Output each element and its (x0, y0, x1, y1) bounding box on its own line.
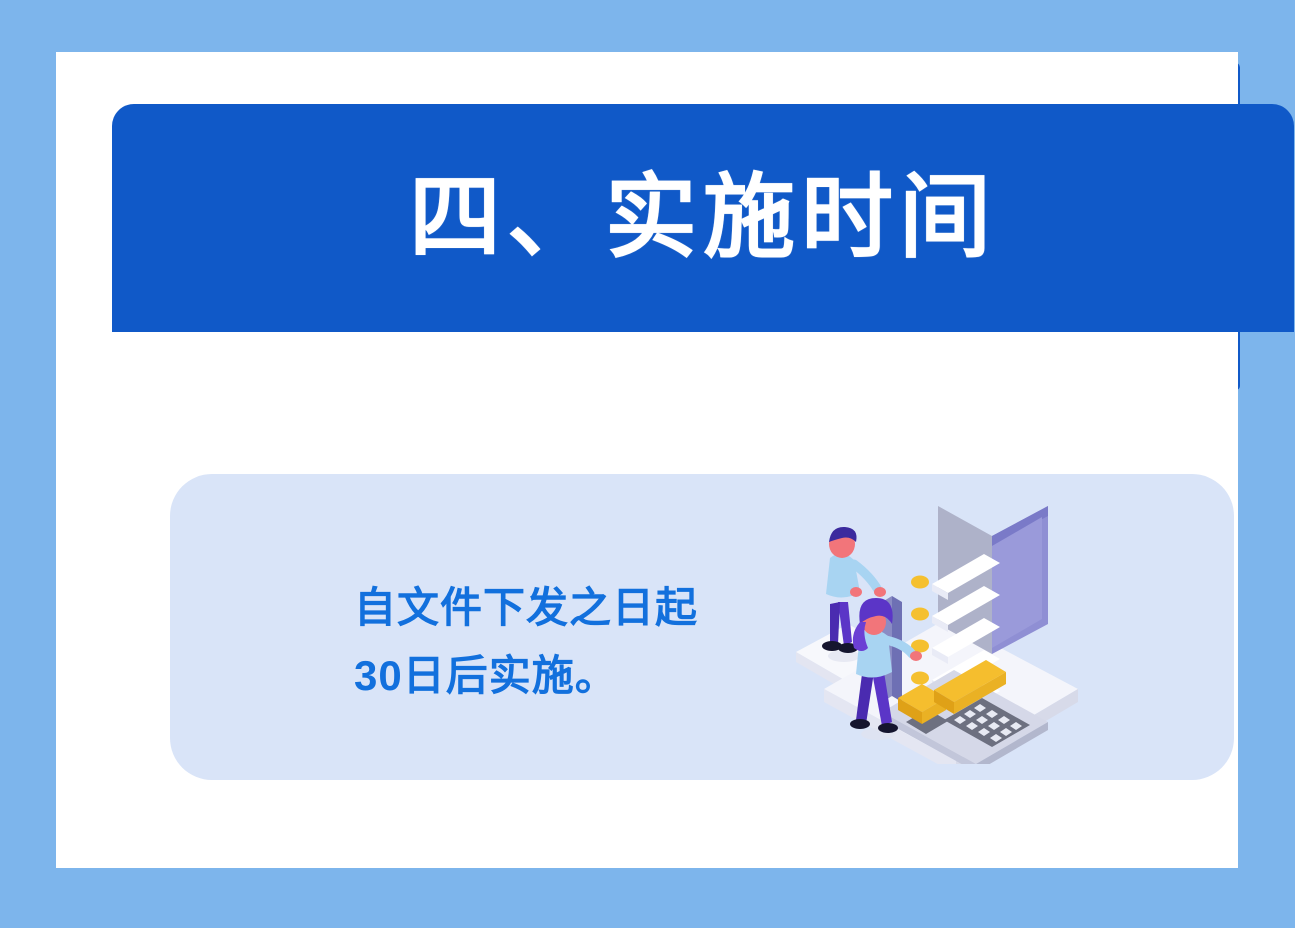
info-text-line-2: 30日后实施。 (354, 642, 698, 710)
info-text-line-1: 自文件下发之日起 (354, 574, 698, 642)
info-card-text: 自文件下发之日起 30日后实施。 (354, 574, 698, 710)
page-title: 四、实施时间 (409, 172, 997, 264)
info-card: 自文件下发之日起 30日后实施。 (170, 474, 1234, 780)
isometric-checklist-laptop-illustration (786, 484, 1106, 764)
header-banner: 四、实施时间 (112, 104, 1294, 332)
content-sheet: 四、实施时间 自文件下发之日起 30日后实施。 (56, 52, 1238, 868)
